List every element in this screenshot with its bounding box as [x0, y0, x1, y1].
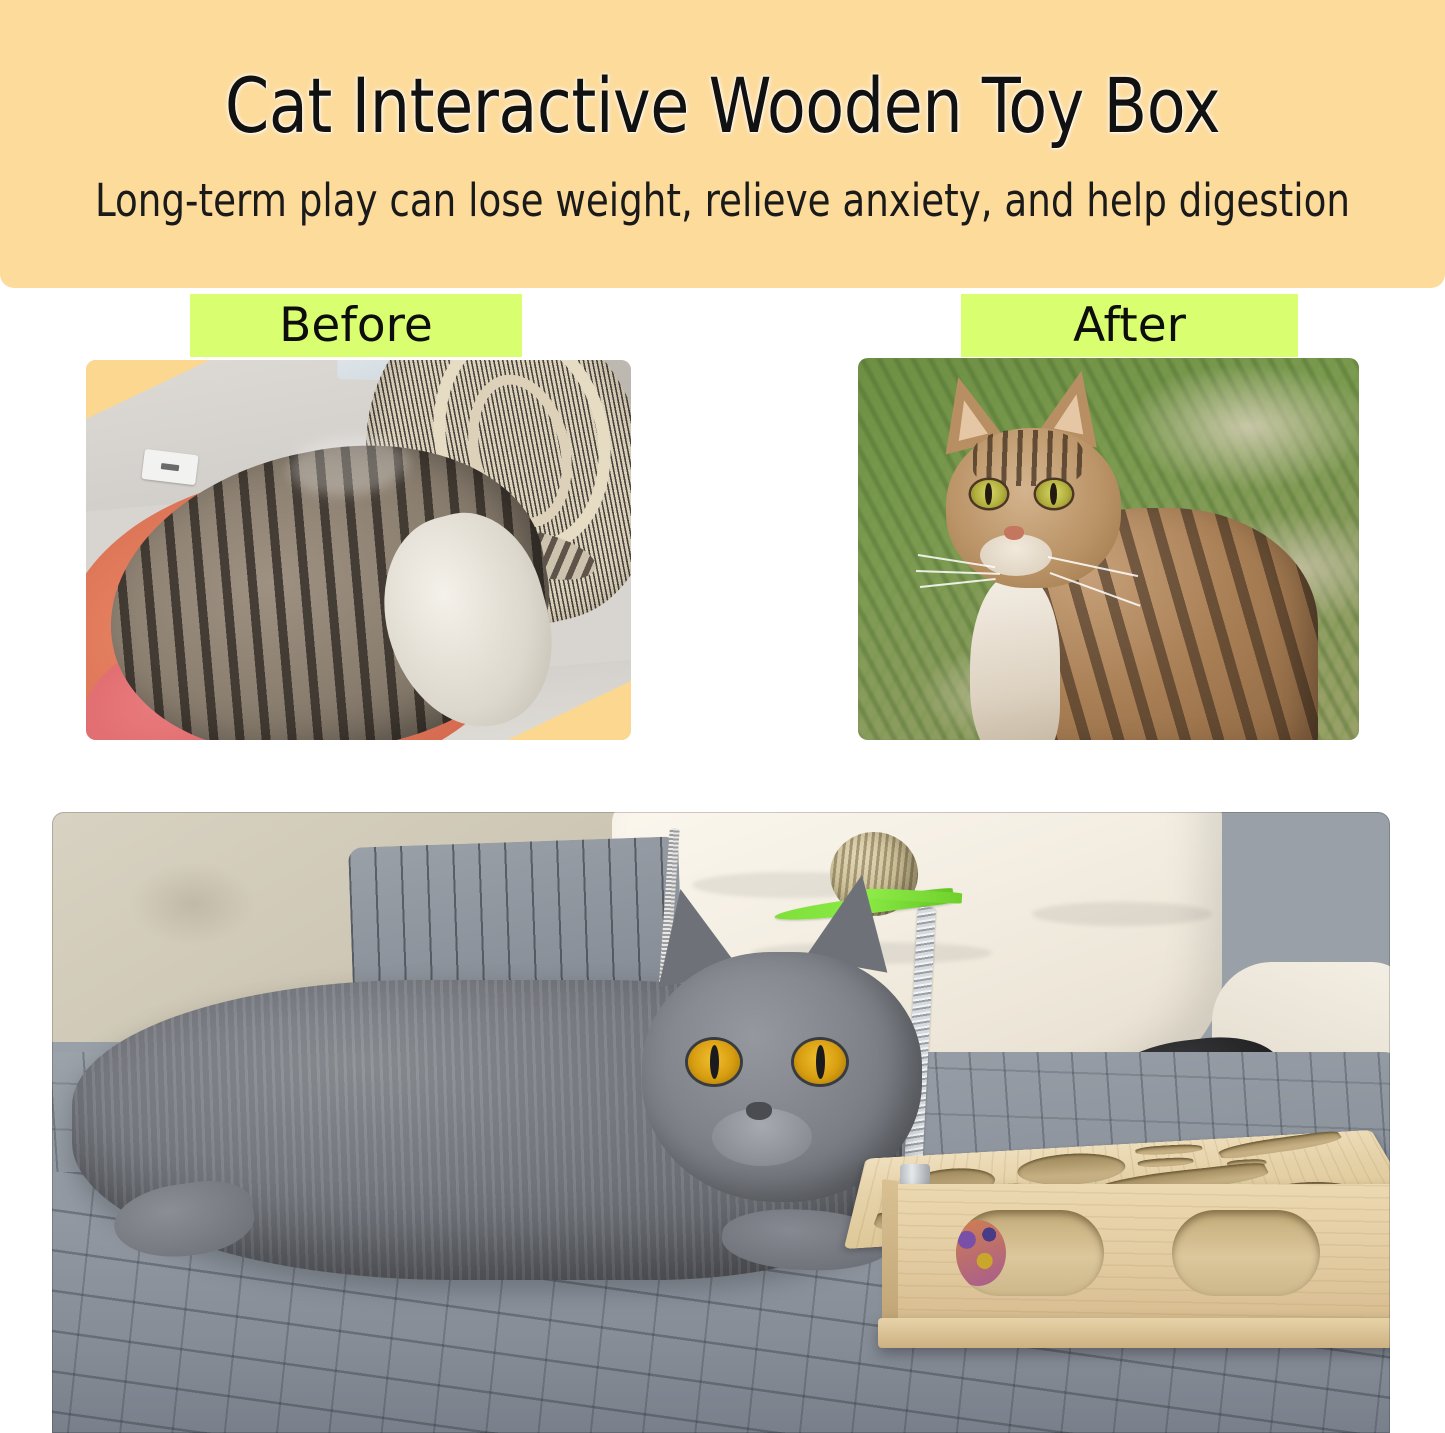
- cat-chest-white: [970, 573, 1060, 740]
- before-label: Before: [190, 294, 522, 357]
- header-banner: Cat Interactive Wooden Toy Box Long-term…: [0, 0, 1445, 288]
- page-subtitle: Long-term play can lose weight, relieve …: [58, 172, 1387, 230]
- before-photo: [86, 360, 631, 740]
- cat-eye-left: [971, 480, 1007, 508]
- cat-eye-left: [688, 1040, 740, 1084]
- blanket-fold: [1032, 902, 1212, 926]
- photo-corner-top-left: [86, 360, 214, 420]
- photo-corner-bottom-right: [503, 680, 631, 740]
- toy-box-side-opening: [956, 1210, 1104, 1296]
- toy-box-base-rail: [878, 1318, 1390, 1348]
- after-label: After: [961, 294, 1298, 357]
- floor-label-tag: [141, 449, 198, 485]
- after-photo: [858, 358, 1359, 740]
- toy-box-side-opening: [1172, 1210, 1320, 1296]
- cat-forehead-stripes: [973, 430, 1083, 486]
- cat-eye-right: [794, 1040, 846, 1084]
- main-product-photo: [52, 812, 1390, 1433]
- cat-nose: [1004, 526, 1024, 540]
- toy-ball-inside: [956, 1220, 1006, 1286]
- cat-eye-right: [1036, 480, 1072, 508]
- page-title: Cat Interactive Wooden Toy Box: [51, 60, 1395, 152]
- cat-muzzle: [980, 534, 1052, 576]
- toy-box-left-edge: [882, 1179, 898, 1341]
- cat-nose: [746, 1102, 772, 1120]
